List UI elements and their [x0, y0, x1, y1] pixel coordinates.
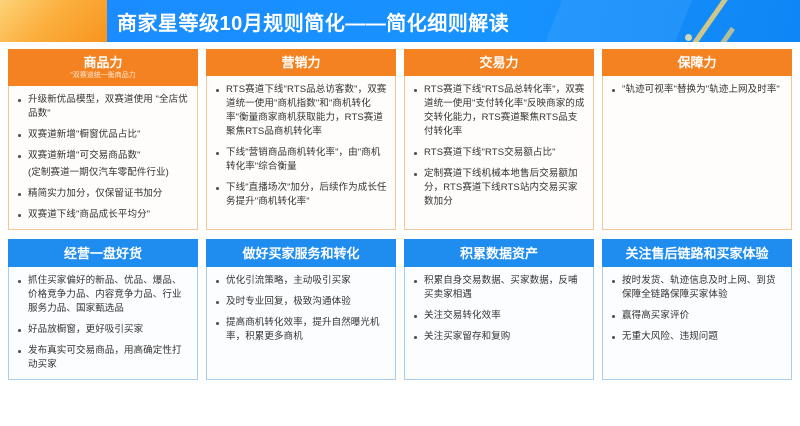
list-item: 好品放橱窗，更好吸引买家	[14, 323, 190, 337]
card-body: 优化引流策略，主动吸引买家 及时专业回复，极致沟通体验 提高商机转化效率，提升自…	[206, 267, 396, 380]
card-good-goods[interactable]: 经营一盘好货 抓住买家偏好的新品、优品、爆品、价格竞争力品、内容竞争力品、行业服…	[8, 239, 198, 380]
list-item: 抓住买家偏好的新品、优品、爆品、价格竞争力品、内容竞争力品、行业服务力品、国家甄…	[14, 274, 190, 316]
list-item: 发布真实可交易商品，用高确定性打动买家	[14, 344, 190, 372]
bullet-list: 抓住买家偏好的新品、优品、爆品、价格竞争力品、内容竞争力品、行业服务力品、国家甄…	[14, 274, 190, 372]
bullet-list: RTS赛道下线"RTS品总访客数"，双赛道统一使用"商机指数"和"商机转化率"衡…	[212, 83, 388, 209]
card-title: 保障力	[606, 55, 788, 70]
card-header: 保障力	[602, 49, 792, 76]
card-aftersales-experience[interactable]: 关注售后链路和买家体验 按时发货、轨迹信息及时上网、到货保障全链路保障买家体验 …	[602, 239, 792, 380]
list-item-note: (定制赛道一期仅汽车零配件行业)	[14, 166, 190, 180]
card-body: 积累自身交易数据、买家数据，反哺买卖家相遇 关注交易转化效率 关注买家留存和复购	[404, 267, 594, 380]
bullet-list: 积累自身交易数据、买家数据，反哺买卖家相遇 关注交易转化效率 关注买家留存和复购	[410, 274, 586, 344]
card-buyer-service[interactable]: 做好买家服务和转化 优化引流策略，主动吸引买家 及时专业回复，极致沟通体验 提高…	[206, 239, 396, 380]
list-item: RTS赛道下线"RTS品总转化率"，双赛道统一使用"支付转化率"反映商家的成交转…	[410, 83, 586, 139]
card-data-assets[interactable]: 积累数据资产 积累自身交易数据、买家数据，反哺买卖家相遇 关注交易转化效率 关注…	[404, 239, 594, 380]
dot-decoration-icon	[685, 34, 692, 41]
list-item: 下线"营销商品商机转化率"，由"商机转化率"综合衡量	[212, 146, 388, 174]
list-item: 及时专业回复，极致沟通体验	[212, 295, 388, 309]
list-item: 赢得高买家评价	[608, 309, 784, 323]
header-blue-banner: 商家星等级10月规则简化——简化细则解读	[107, 0, 800, 42]
list-item: 按时发货、轨迹信息及时上网、到货保障全链路保障买家体验	[608, 274, 784, 302]
list-item: 双赛道新增"可交易商品数"	[14, 149, 190, 163]
list-item: "轨迹可视率"替换为"轨迹上网及时率"	[608, 83, 784, 97]
list-item: 积累自身交易数据、买家数据，反哺买卖家相遇	[410, 274, 586, 302]
card-body: RTS赛道下线"RTS品总访客数"，双赛道统一使用"商机指数"和"商机转化率"衡…	[206, 76, 396, 230]
card-header: 交易力	[404, 49, 594, 76]
list-item: 下线"直播场次"加分，后续作为成长任务提升"商机转化率"	[212, 181, 388, 209]
top-row: 商品力 "双赛道统一衡商品力 升级新优品模型，双赛道使用 "全店优品数" 双赛道…	[8, 49, 792, 230]
card-body: RTS赛道下线"RTS品总转化率"，双赛道统一使用"支付转化率"反映商家的成交转…	[404, 76, 594, 230]
card-body: 升级新优品模型，双赛道使用 "全店优品数" 双赛道新增"橱窗优品占比" 双赛道新…	[8, 86, 198, 230]
slide-page: 商家星等级10月规则简化——简化细则解读 商品力 "双赛道统一衡商品力 升级新优…	[0, 0, 800, 426]
diagonal-stripe-small-icon	[716, 27, 735, 42]
card-header: 商品力 "双赛道统一衡商品力	[8, 49, 198, 86]
list-item: 关注交易转化效率	[410, 309, 586, 323]
card-body: 抓住买家偏好的新品、优品、爆品、价格竞争力品、内容竞争力品、行业服务力品、国家甄…	[8, 267, 198, 380]
card-body: 按时发货、轨迹信息及时上网、到货保障全链路保障买家体验 赢得高买家评价 无重大风…	[602, 267, 792, 380]
list-item: 优化引流策略，主动吸引买家	[212, 274, 388, 288]
card-guarantee-power[interactable]: 保障力 "轨迹可视率"替换为"轨迹上网及时率"	[602, 49, 792, 230]
bullet-list: 优化引流策略，主动吸引买家 及时专业回复，极致沟通体验 提高商机转化效率，提升自…	[212, 274, 388, 344]
card-header: 营销力	[206, 49, 396, 76]
list-item: 关注买家留存和复购	[410, 330, 586, 344]
bottom-row: 经营一盘好货 抓住买家偏好的新品、优品、爆品、价格竞争力品、内容竞争力品、行业服…	[8, 239, 792, 380]
list-item: 双赛道下线"商品成长平均分"	[14, 208, 190, 222]
card-transaction-power[interactable]: 交易力 RTS赛道下线"RTS品总转化率"，双赛道统一使用"支付转化率"反映商家…	[404, 49, 594, 230]
card-title: 经营一盘好货	[12, 246, 194, 261]
card-header: 做好买家服务和转化	[206, 239, 396, 267]
list-item: 升级新优品模型，双赛道使用 "全店优品数"	[14, 93, 190, 121]
card-title: 营销力	[210, 55, 392, 70]
list-item: 提高商机转化效率，提升自然曝光机率，积累更多商机	[212, 316, 388, 344]
list-item: 双赛道新增"橱窗优品占比"	[14, 128, 190, 142]
bullet-list: "轨迹可视率"替换为"轨迹上网及时率"	[608, 83, 784, 97]
card-commodity-power[interactable]: 商品力 "双赛道统一衡商品力 升级新优品模型，双赛道使用 "全店优品数" 双赛道…	[8, 49, 198, 230]
list-item: 无重大风险、违规问题	[608, 330, 784, 344]
cards-board: 商品力 "双赛道统一衡商品力 升级新优品模型，双赛道使用 "全店优品数" 双赛道…	[0, 42, 800, 388]
card-header: 积累数据资产	[404, 239, 594, 267]
header-orange-block	[0, 0, 107, 42]
card-header: 经营一盘好货	[8, 239, 198, 267]
card-marketing-power[interactable]: 营销力 RTS赛道下线"RTS品总访客数"，双赛道统一使用"商机指数"和"商机转…	[206, 49, 396, 230]
list-item: 定制赛道下线机械本地售后交易额加分，RTS赛道下线RTS站内交易买家数加分	[410, 167, 586, 209]
card-title: 关注售后链路和买家体验	[606, 246, 788, 261]
bullet-list: RTS赛道下线"RTS品总转化率"，双赛道统一使用"支付转化率"反映商家的成交转…	[410, 83, 586, 209]
card-title: 商品力	[12, 55, 194, 70]
bullet-list: 升级新优品模型，双赛道使用 "全店优品数" 双赛道新增"橱窗优品占比" 双赛道新…	[14, 93, 190, 222]
bullet-list: 按时发货、轨迹信息及时上网、到货保障全链路保障买家体验 赢得高买家评价 无重大风…	[608, 274, 784, 344]
card-header: 关注售后链路和买家体验	[602, 239, 792, 267]
list-item: 精简实力加分，仅保留证书加分	[14, 187, 190, 201]
page-header: 商家星等级10月规则简化——简化细则解读	[0, 0, 800, 42]
card-title: 积累数据资产	[408, 246, 590, 261]
list-item: RTS赛道下线"RTS品总访客数"，双赛道统一使用"商机指数"和"商机转化率"衡…	[212, 83, 388, 139]
card-body: "轨迹可视率"替换为"轨迹上网及时率"	[602, 76, 792, 230]
list-item: RTS赛道下线"RTS交易额占比"	[410, 146, 586, 160]
card-title: 交易力	[408, 55, 590, 70]
card-title: 做好买家服务和转化	[210, 246, 392, 261]
page-title: 商家星等级10月规则简化——简化细则解读	[107, 7, 509, 36]
card-subtitle: "双赛道统一衡商品力	[12, 71, 194, 81]
